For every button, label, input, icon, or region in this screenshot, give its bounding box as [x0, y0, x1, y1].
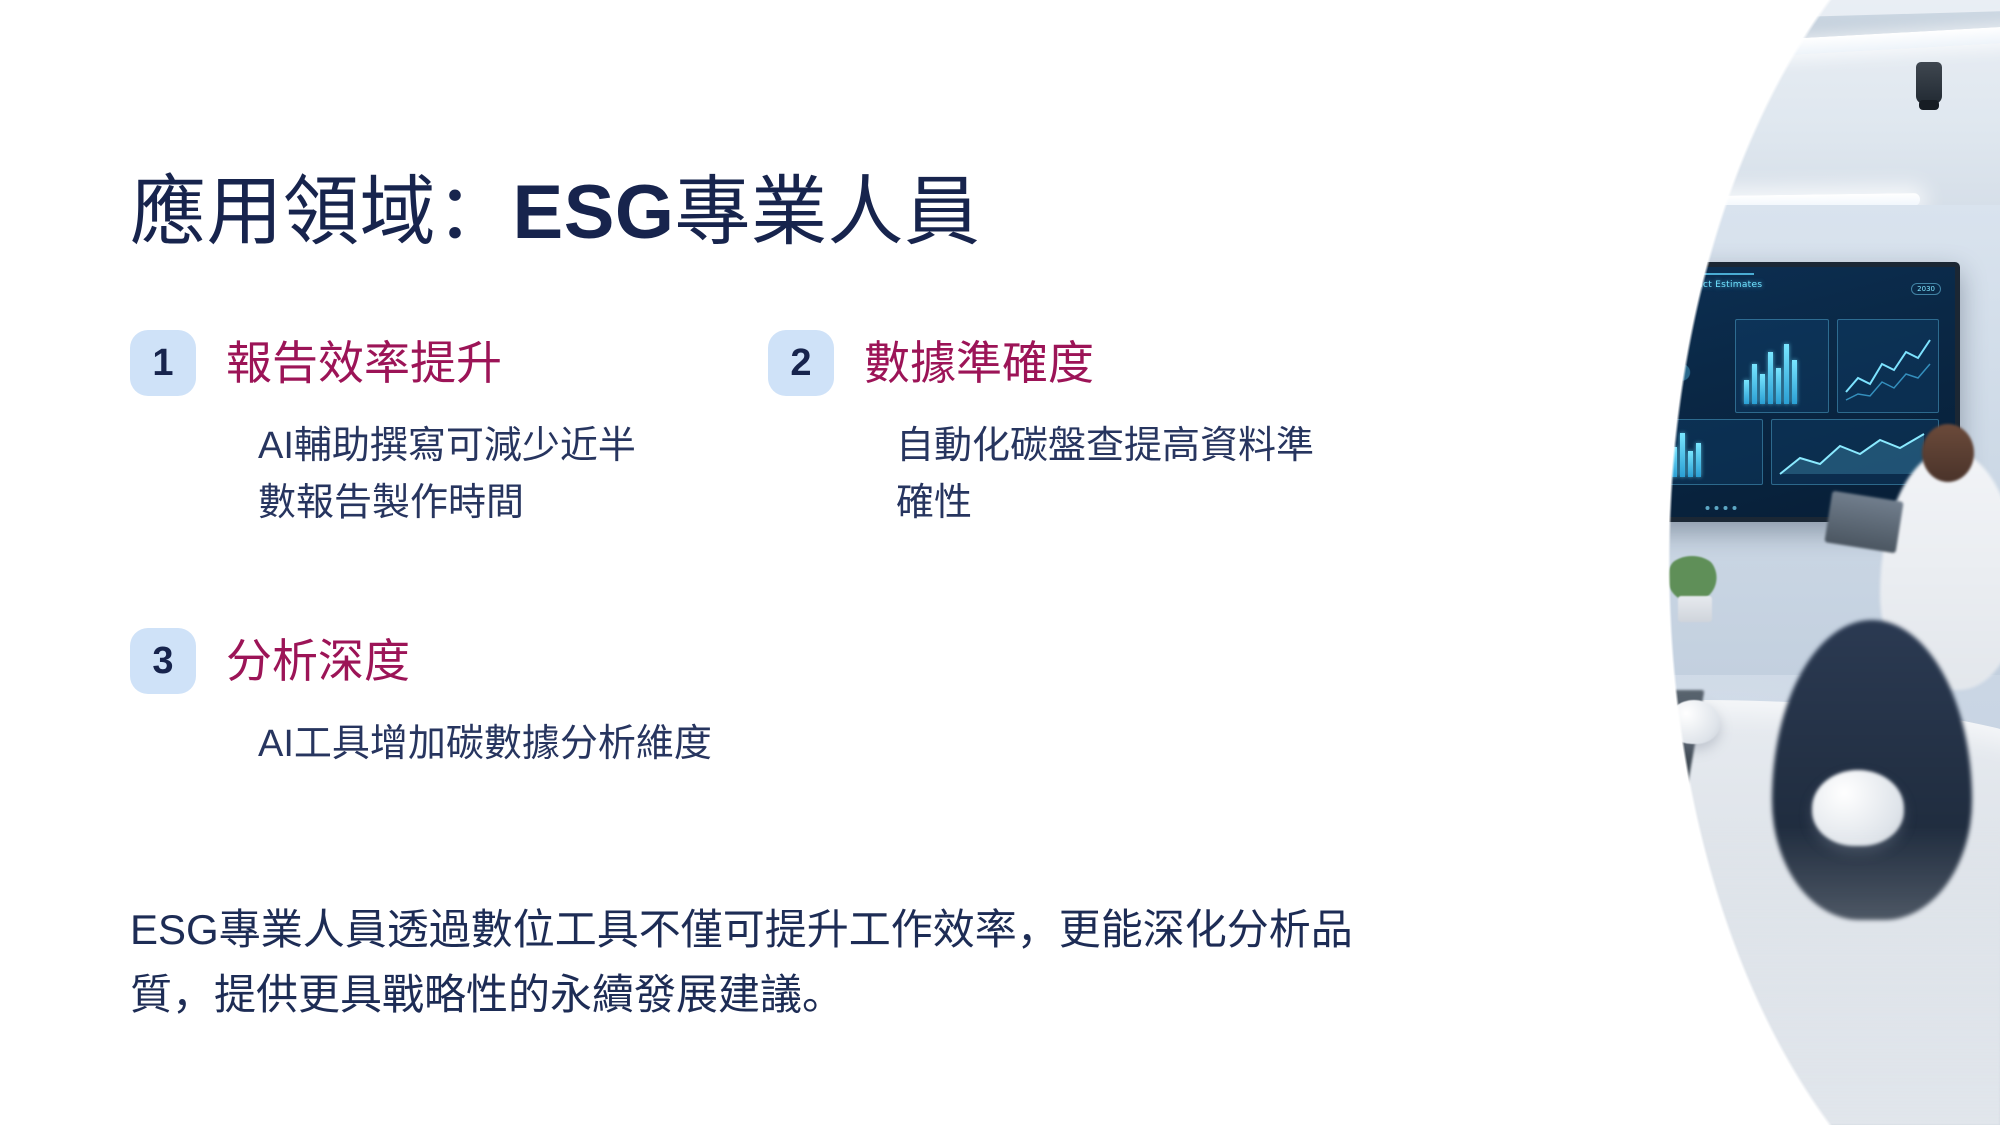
screen-line-chart: [1844, 330, 1932, 404]
screen-title: Carbon Neutral·ze Carbon Roadmaps Impact…: [1499, 279, 1762, 303]
page-title: 應用領域：ESG專業人員: [130, 169, 981, 256]
ceiling: [1440, 0, 2000, 215]
feature-badge-2: 2: [768, 330, 834, 396]
feature-title-1: 報告效率提升: [226, 338, 502, 389]
coffee-cup: [1668, 700, 1720, 744]
feature-item-3: 3 分析深度 AI工具增加碳數據分析維度: [130, 628, 890, 773]
feature-item-2: 2 數據準確度 自動化碳盤查提高資料準確性: [768, 330, 1328, 532]
screen-bar-chart: [1744, 338, 1797, 404]
screen-top-line: [1684, 273, 1754, 275]
person-head: [1488, 418, 1540, 476]
screen-area-chart: [1778, 428, 1930, 478]
page-title-suffix: 專業人員: [675, 170, 981, 255]
tablet-device-right: [1824, 491, 1903, 554]
feature-title-3: 分析深度: [226, 636, 410, 687]
feature-item-2-head: 2 數據準確度: [768, 330, 1328, 396]
page-title-prefix: 應用領域：: [130, 170, 513, 255]
screen-chart-panel: [1631, 419, 1763, 485]
water-bottle: [1636, 528, 1656, 592]
water-bottle: [1600, 520, 1622, 592]
feature-body-3: AI工具增加碳數據分析維度: [258, 716, 890, 773]
screen-world-map: [1501, 319, 1716, 411]
feature-badge-3: 3: [130, 628, 196, 694]
depth-of-field-overlay: [1440, 825, 2000, 1125]
feature-badge-1: 1: [130, 330, 196, 396]
content-column: 應用領域：ESG專業人員 1 報告效率提升 AI輔助撰寫可減少近半數報告製作時間…: [130, 0, 1420, 1125]
spotlight-icon: [1916, 62, 1942, 104]
feature-item-1: 1 報告效率提升 AI輔助撰寫可減少近半數報告製作時間: [130, 330, 650, 532]
feature-row-2: 3 分析深度 AI工具增加碳數據分析維度: [130, 580, 1420, 750]
screen-title-line2: ESG: [1499, 291, 1762, 303]
feature-list: 1 報告效率提升 AI輔助撰寫可減少近半數報告製作時間 2 數據準確度 自動化碳…: [130, 330, 1420, 750]
slide-root: 應用領域：ESG專業人員 1 報告效率提升 AI輔助撰寫可減少近半數報告製作時間…: [0, 0, 2000, 1125]
feature-body-1: AI輔助撰寫可減少近半數報告製作時間: [258, 418, 650, 532]
screen-chart-panel: [1735, 319, 1829, 413]
feature-title-2: 數據準確度: [864, 338, 1094, 389]
feature-item-1-head: 1 報告效率提升: [130, 330, 650, 396]
plant-pot: [1678, 596, 1712, 622]
spotlight-icon: [1480, 56, 1506, 98]
screen-pagination-dots: [1706, 506, 1737, 510]
screen-title-line1: Carbon Neutral·ze Carbon Roadmaps Impact…: [1499, 280, 1762, 290]
screen-badge: 2030: [1911, 283, 1941, 295]
summary-paragraph: ESG專業人員透過數位工具不僅可提升工作效率，更能深化分析品質，提供更具戰略性的…: [130, 897, 1365, 1027]
person-head: [1922, 424, 1974, 482]
feature-item-3-head: 3 分析深度: [130, 628, 890, 694]
ceiling-beam: [1440, 9, 2000, 58]
boardroom-photo: Carbon Neutral·ze Carbon Roadmaps Impact…: [1440, 0, 2000, 1125]
feature-row-1: 1 報告效率提升 AI輔助撰寫可減少近半數報告製作時間 2 數據準確度 自動化碳…: [130, 330, 1420, 580]
page-title-accent: ESG: [513, 170, 675, 255]
screen-chart-panel: [1837, 319, 1939, 413]
screen-bar-chart: [1640, 431, 1701, 477]
photo-scene: Carbon Neutral·ze Carbon Roadmaps Impact…: [1440, 0, 2000, 1125]
feature-body-2: 自動化碳盤查提高資料準確性: [896, 418, 1328, 532]
